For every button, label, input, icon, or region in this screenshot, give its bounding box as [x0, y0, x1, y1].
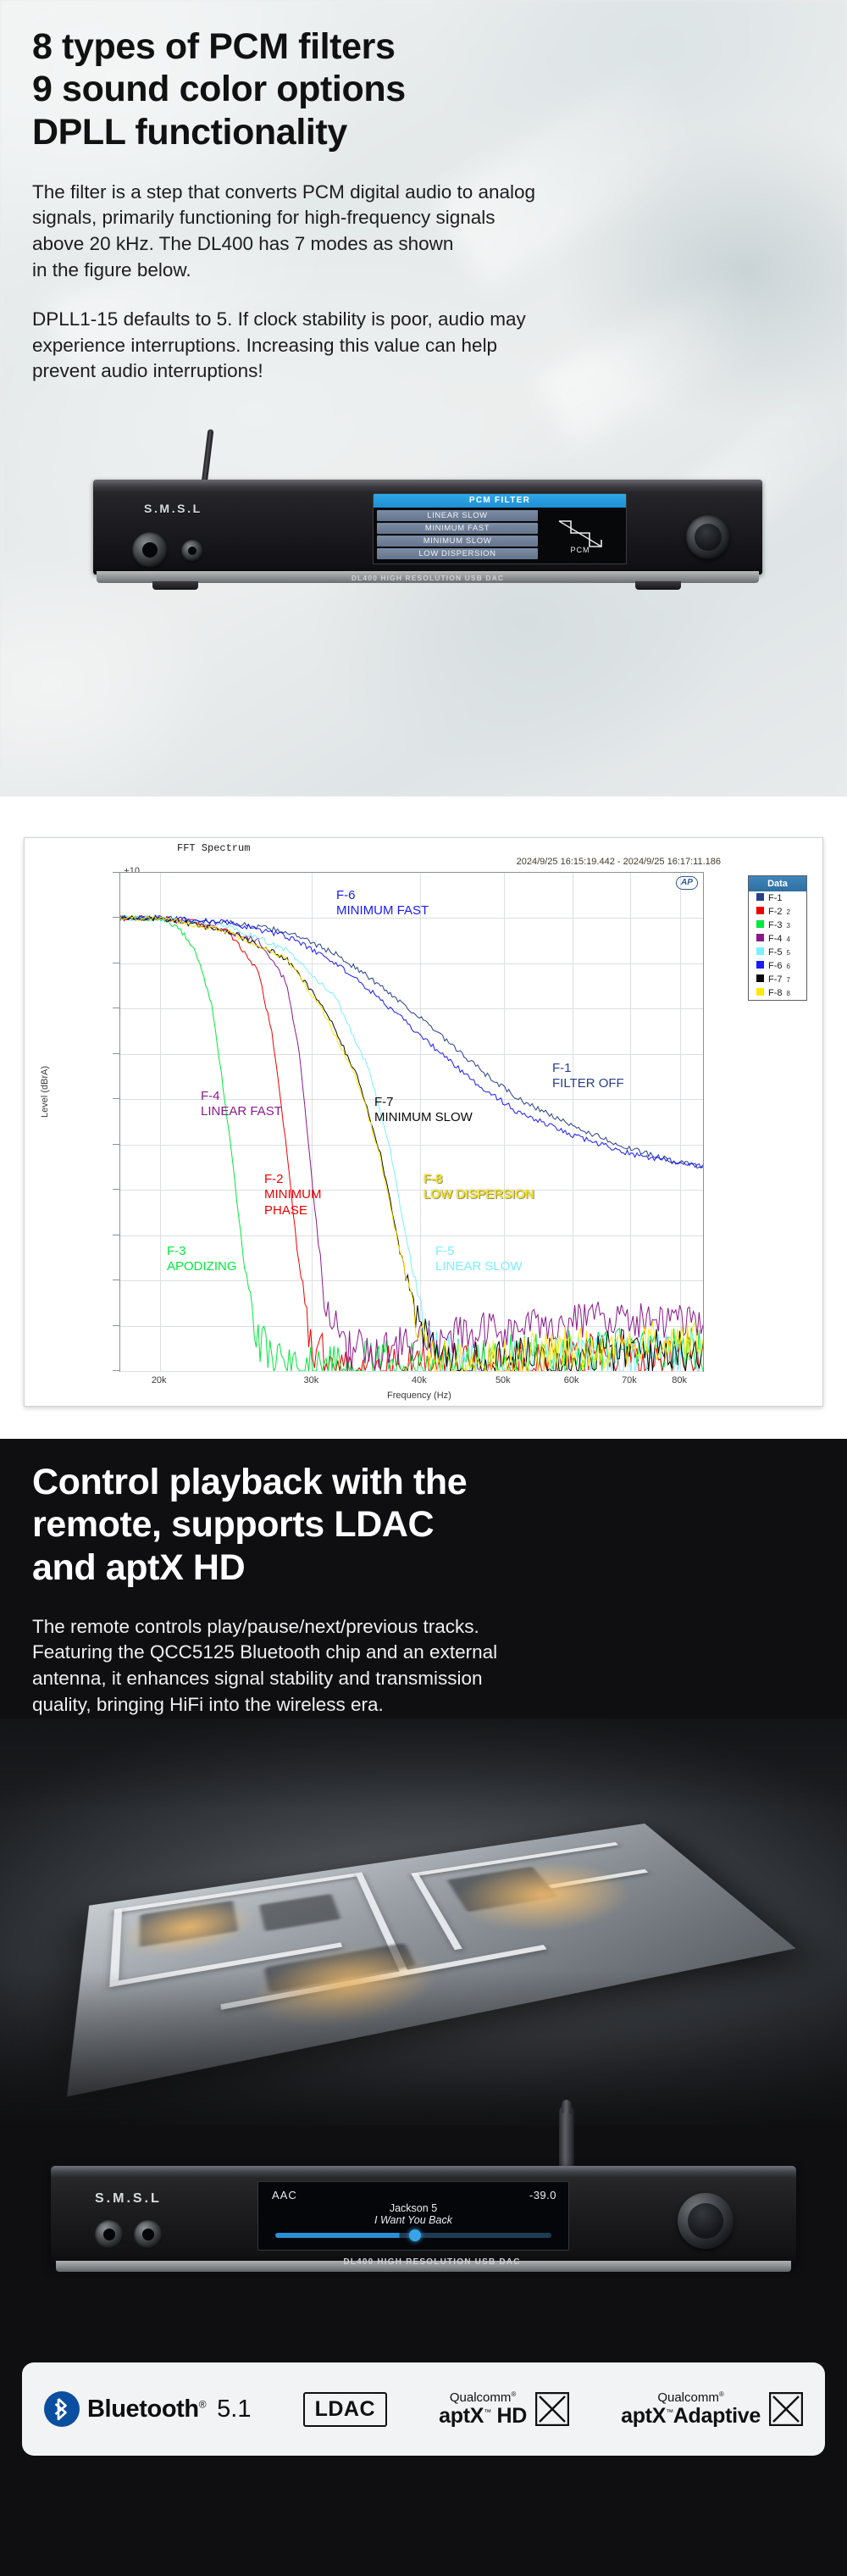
qualcomm-word: Qualcomm [450, 2390, 512, 2405]
legend-label: F-2 [768, 907, 783, 917]
smsl-logo: S.M.S.L [144, 502, 202, 515]
bluetooth-antenna-tip [562, 2100, 572, 2113]
smsl-logo: S.M.S.L [95, 2191, 162, 2207]
now-playing-artist: Jackson 5 [258, 2202, 568, 2214]
y-axis-tick [113, 1189, 119, 1190]
dac-chassis-top [93, 480, 762, 491]
x-axis-title: Frequency (Hz) [387, 1391, 451, 1401]
legend-row-f-3[interactable]: F-33 [749, 919, 806, 932]
legend-swatch-icon [756, 920, 764, 928]
legend-row-f-6[interactable]: F-66 [749, 959, 806, 973]
x-axis-tick-label: 40k [412, 1375, 427, 1385]
qualcomm-label: Qualcomm® [439, 2391, 527, 2405]
adaptive-word: Adaptive [673, 2404, 761, 2428]
codec-format-label: AAC [272, 2189, 297, 2201]
y-axis-tick [113, 917, 119, 918]
chart-legend: Data F-1F-22F-33F-44F-55F-66F-77F-88 [748, 875, 807, 1001]
dac-product-photo-playback: S.M.S.L AAC -39.0 Jackson 5 I Want You B… [51, 2132, 796, 2301]
legend-swatch-icon [756, 947, 764, 955]
dpll-description-paragraph: DPLL1-15 defaults to 5. If clock stabili… [32, 307, 815, 385]
aptx-hd-badge: Qualcomm® aptX™ HD [439, 2391, 569, 2427]
headphone-jack-hole [188, 547, 197, 555]
ap-watermark-icon: AP [676, 876, 698, 890]
legend-swatch-icon [756, 974, 764, 982]
x-axis-tick-label: 50k [495, 1375, 511, 1385]
menu-item-linear-slow[interactable]: LINEAR SLOW [377, 510, 538, 521]
plot-area: F-6 MINIMUM FASTF-1 FILTER OFFF-4 LINEAR… [119, 872, 704, 1372]
x-axis-tick-label: 80k [672, 1375, 687, 1385]
y-axis-tick [113, 1053, 119, 1054]
dac-display-screen[interactable]: PCM FILTER LINEAR SLOW MINIMUM FAST MINI… [373, 493, 627, 564]
legend-label: F-1 [768, 893, 783, 903]
y-axis-tick [113, 1144, 119, 1145]
now-playing-track: I Want You Back [258, 2214, 568, 2226]
annotation-f-4: F-4 LINEAR FAST [201, 1089, 282, 1120]
legend-swatch-icon [756, 934, 764, 941]
legend-label: F-8 [768, 988, 783, 998]
aptx-x-icon [535, 2392, 569, 2426]
headphone-jack-hole [142, 2229, 154, 2240]
legend-row-f-1[interactable]: F-1 [749, 891, 806, 905]
menu-item-minimum-slow[interactable]: MINIMUM SLOW [377, 536, 538, 547]
legend-swatch-icon [756, 907, 764, 914]
trademark-mark: ™ [484, 2407, 491, 2416]
model-nameplate: DL400 HIGH RESOLUTION USB DAC [220, 573, 635, 582]
volume-level-label: -39.0 [529, 2189, 556, 2201]
annotation-f-6: F-6 MINIMUM FAST [336, 888, 429, 919]
dac-playback-screen[interactable]: AAC -39.0 Jackson 5 I Want You Back [257, 2181, 569, 2251]
y-axis-tick [113, 1098, 119, 1099]
aptx-adaptive-label: aptX™Adaptive [621, 2405, 761, 2428]
trace-f-6 [120, 915, 703, 1168]
y-axis-tick [113, 1280, 119, 1280]
registered-mark: ® [511, 2390, 516, 2398]
legend-sublabel: 4 [787, 935, 790, 943]
annotation-f-8: F-8 LOW DISPERSION [423, 1172, 534, 1203]
x-axis-tick-label: 30k [304, 1375, 319, 1385]
aptx-word: aptX [439, 2404, 484, 2428]
y-axis-title: Level (dBrA) [40, 1066, 50, 1118]
x-axis-tick-label: 70k [622, 1375, 637, 1385]
model-nameplate: DL400 HIGH RESOLUTION USB DAC [305, 2257, 559, 2267]
trace-f-1 [120, 916, 703, 1169]
legend-sublabel: 7 [787, 976, 790, 984]
gridline-horizontal [120, 1371, 703, 1372]
legend-swatch-icon [756, 988, 764, 996]
y-axis-tick [113, 1008, 119, 1008]
section2-copy: Control playback with the remote, suppor… [0, 1439, 847, 1718]
playback-progress-handle[interactable] [409, 2229, 421, 2241]
page-title: 8 types of PCM filters 9 sound color opt… [32, 25, 815, 153]
section1-copy: 8 types of PCM filters 9 sound color opt… [0, 0, 847, 385]
y-axis-tick [113, 1235, 119, 1235]
ldac-badge: LDAC [303, 2392, 387, 2427]
dac-product-photo-filter-menu: S.M.S.L PCM FILTER LINEAR SLOW MINIMUM F… [0, 425, 847, 646]
registered-mark: ® [199, 2398, 206, 2410]
bluetooth-wordmark: Bluetooth® [87, 2396, 206, 2423]
bluetooth-badge: Bluetooth® 5.1 [44, 2391, 251, 2427]
screen-title-pcm-filter: PCM FILTER [374, 494, 626, 508]
legend-rows: F-1F-22F-33F-44F-55F-66F-77F-88 [749, 891, 806, 1000]
bluetooth-version: 5.1 [217, 2396, 251, 2423]
hd-word: HD [491, 2404, 527, 2428]
legend-row-f-8[interactable]: F-88 [749, 986, 806, 1000]
annotation-f-7: F-7 MINIMUM SLOW [374, 1095, 473, 1126]
y-axis-tick [113, 872, 119, 873]
chart-header: FFT Spectrum 2024/9/25 16:15:19.442 - 20… [25, 838, 822, 875]
legend-row-f-5[interactable]: F-55 [749, 946, 806, 959]
pcm-waveform-icon: PCM [538, 510, 623, 561]
trademark-mark: ™ [666, 2407, 673, 2416]
annotation-f-2: F-2 MINIMUM PHASE [264, 1172, 322, 1219]
legend-label: F-4 [768, 934, 783, 944]
filter-description-paragraph: The filter is a step that converts PCM d… [32, 180, 815, 283]
headphone-jack-hole [142, 542, 158, 558]
volume-knob-inner[interactable] [695, 524, 722, 551]
legend-label: F-7 [768, 974, 783, 985]
y-axis-tick [113, 1370, 119, 1371]
menu-item-low-dispersion[interactable]: LOW DISPERSION [377, 548, 538, 559]
chart-timestamp: 2024/9/25 16:15:19.442 - 2024/9/25 16:17… [517, 857, 721, 867]
pcm-filter-section: 8 types of PCM filters 9 sound color opt… [0, 0, 847, 797]
qualcomm-word: Qualcomm [657, 2390, 719, 2405]
dac-chassis-top [51, 2166, 796, 2177]
legend-sublabel: 5 [787, 949, 790, 957]
legend-row-f-4[interactable]: F-44 [749, 932, 806, 946]
pcm-icon-label: PCM [571, 546, 590, 554]
fft-spectrum-chart-card: FFT Spectrum 2024/9/25 16:15:19.442 - 20… [24, 837, 823, 1407]
dac-foot [152, 581, 198, 590]
legend-swatch-icon [756, 893, 764, 901]
legend-sublabel: 8 [787, 990, 790, 997]
headphone-jack-hole [103, 2229, 115, 2240]
section2-paragraph: The remote controls play/pause/next/prev… [32, 1614, 815, 1718]
x-axis-tick-label: 20k [152, 1375, 167, 1385]
bluetooth-icon [44, 2391, 80, 2427]
legend-label: F-6 [768, 961, 783, 971]
volume-knob-inner[interactable] [688, 2203, 723, 2239]
legend-label: F-3 [768, 920, 783, 930]
legend-title: Data [749, 876, 806, 891]
isometric-room-render [0, 1718, 847, 2125]
annotation-f-1: F-1 FILTER OFF [552, 1061, 624, 1092]
y-axis-tick [113, 1325, 119, 1326]
aptx-adaptive-badge: Qualcomm® aptX™Adaptive [621, 2391, 803, 2427]
legend-sublabel: 2 [787, 908, 790, 916]
qualcomm-label: Qualcomm® [621, 2391, 761, 2405]
menu-item-minimum-fast[interactable]: MINIMUM FAST [377, 523, 538, 534]
aptx-hd-label: aptX™ HD [439, 2405, 527, 2428]
annotation-f-3: F-3 APODIZING [167, 1244, 237, 1275]
chart-title: FFT Spectrum [177, 842, 250, 854]
annotation-f-5: F-5 LINEAR SLOW [435, 1244, 523, 1275]
aptx-word: aptX [621, 2404, 666, 2428]
legend-row-f-7[interactable]: F-77 [749, 973, 806, 986]
legend-row-f-2[interactable]: F-22 [749, 905, 806, 919]
legend-label: F-5 [768, 947, 783, 958]
remote-bluetooth-section: Control playback with the remote, suppor… [0, 1439, 847, 2576]
aptx-x-icon [769, 2392, 803, 2426]
y-axis-tick [113, 963, 119, 963]
bluetooth-word-text: Bluetooth [87, 2396, 199, 2423]
legend-swatch-icon [756, 961, 764, 969]
dac-foot [635, 581, 681, 590]
legend-sublabel: 6 [787, 963, 790, 970]
section2-title: Control playback with the remote, suppor… [32, 1461, 815, 1589]
registered-mark: ® [719, 2390, 724, 2398]
certification-logo-bar: Bluetooth® 5.1 LDAC Qualcomm® aptX™ HD Q… [22, 2362, 825, 2456]
room-vignette [0, 1718, 847, 2125]
legend-sublabel: 3 [787, 922, 790, 930]
x-axis-tick-label: 60k [564, 1375, 579, 1385]
pcm-filter-menu-list[interactable]: LINEAR SLOW MINIMUM FAST MINIMUM SLOW LO… [377, 510, 538, 561]
